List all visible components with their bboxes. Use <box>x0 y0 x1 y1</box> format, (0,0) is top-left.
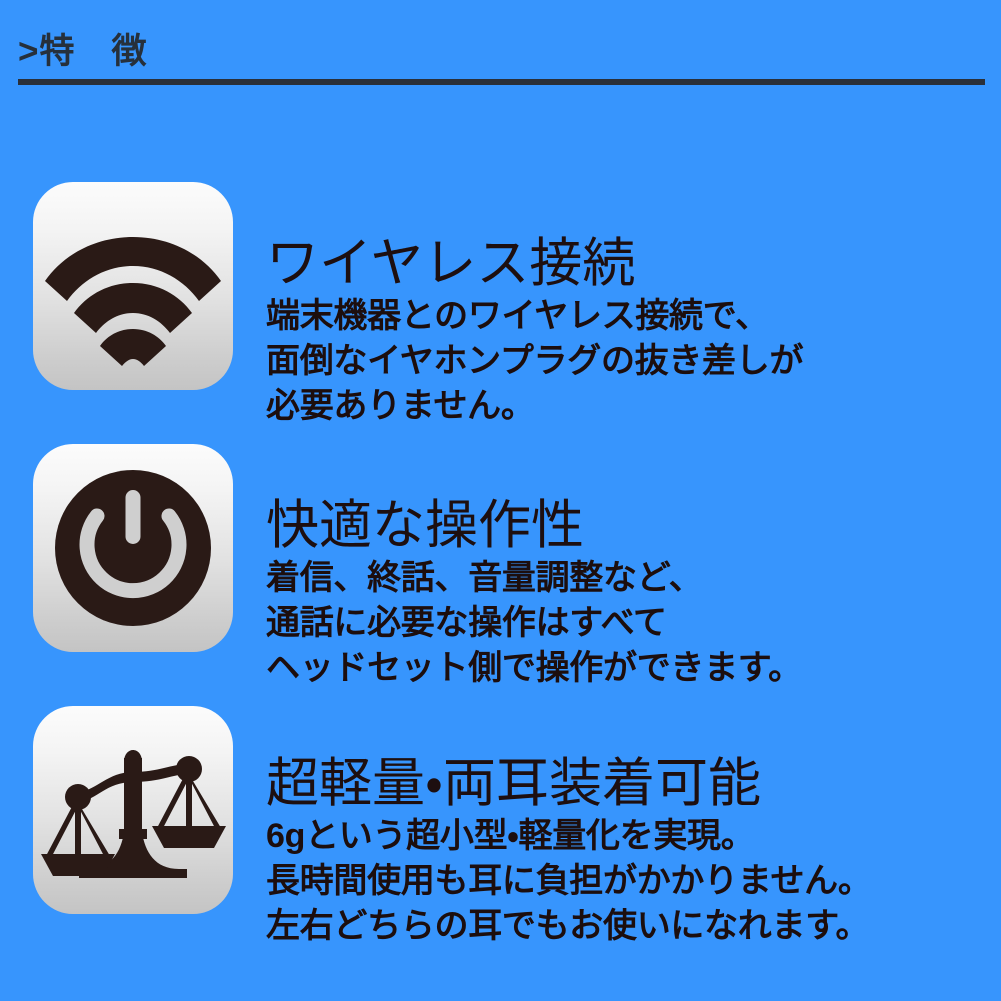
feature-body: 6gという超小型・軽量化を実現。 長時間使用も耳に負担がかかりません。 左右どち… <box>266 814 986 949</box>
feature-body-line: 端末機器とのワイヤレス接続で、 <box>266 294 986 339</box>
wifi-icon <box>33 182 233 390</box>
feature-item-operability: 快適な操作性 着信、終話、音量調整など、 通話に必要な操作はすべて ヘッドセット… <box>0 434 1001 696</box>
balance-scale-icon <box>33 706 233 914</box>
page-title: >特 徴 <box>18 31 147 73</box>
feature-body: 着信、終話、音量調整など、 通話に必要な操作はすべて ヘッドセット側で操作ができ… <box>266 556 986 691</box>
power-button-icon-tile <box>33 444 233 652</box>
feature-body-line: 面倒なイヤホンプラグの抜き差しが <box>266 339 986 384</box>
feature-body-line: 6gという超小型・軽量化を実現。 <box>266 814 986 859</box>
balance-scale-icon-tile <box>33 706 233 914</box>
feature-item-wireless: ワイヤレス接続 端末機器とのワイヤレス接続で、 面倒なイヤホンプラグの抜き差しが… <box>0 172 1001 434</box>
page-header: >特 徴 <box>0 0 1001 100</box>
feature-text-block: ワイヤレス接続 端末機器とのワイヤレス接続で、 面倒なイヤホンプラグの抜き差しが… <box>266 234 986 429</box>
feature-text-block: 超軽量・両耳装着可能 6gという超小型・軽量化を実現。 長時間使用も耳に負担がか… <box>266 754 986 949</box>
feature-body: 端末機器とのワイヤレス接続で、 面倒なイヤホンプラグの抜き差しが 必要ありません… <box>266 294 986 429</box>
feature-title: 超軽量・両耳装着可能 <box>266 754 986 814</box>
feature-body-line: 左右どちらの耳でもお使いになれます。 <box>266 904 986 949</box>
feature-body-line: ヘッドセット側で操作ができます。 <box>266 646 986 691</box>
power-button-icon <box>33 444 233 652</box>
feature-body-line: 長時間使用も耳に負担がかかりません。 <box>266 859 986 904</box>
feature-text-block: 快適な操作性 着信、終話、音量調整など、 通話に必要な操作はすべて ヘッドセット… <box>266 496 986 691</box>
feature-title: 快適な操作性 <box>266 496 986 556</box>
feature-body-line: 通話に必要な操作はすべて <box>266 601 986 646</box>
feature-item-lightweight: 超軽量・両耳装着可能 6gという超小型・軽量化を実現。 長時間使用も耳に負担がか… <box>0 696 1001 958</box>
header-divider <box>18 79 985 85</box>
feature-title: ワイヤレス接続 <box>266 234 986 294</box>
feature-body-line: 着信、終話、音量調整など、 <box>266 556 986 601</box>
feature-body-line: 必要ありません。 <box>266 384 986 429</box>
wifi-icon-tile <box>33 182 233 390</box>
